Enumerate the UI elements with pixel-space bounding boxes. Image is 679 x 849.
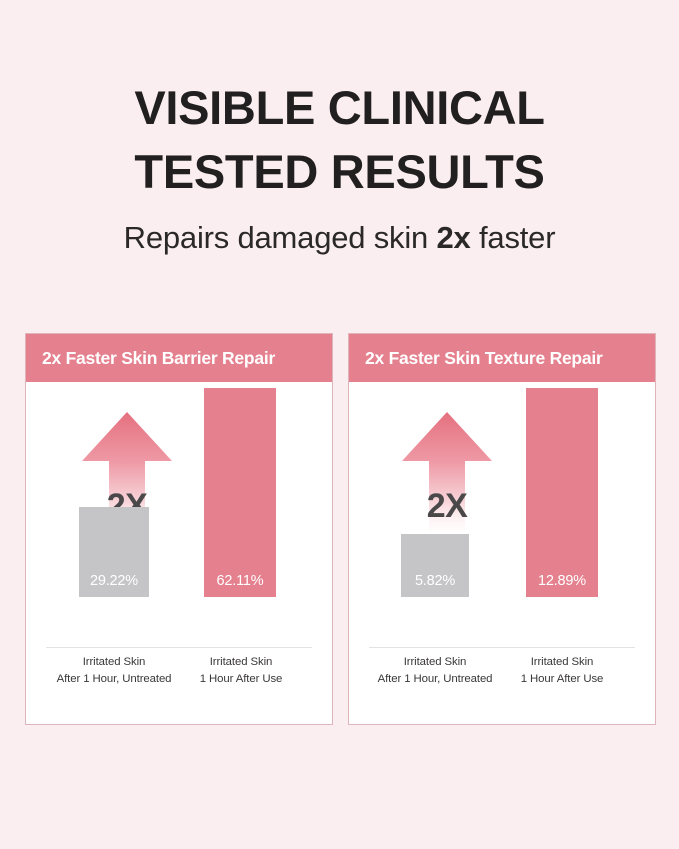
bar-caption-after-use: Irritated Skin 1 Hour After Use xyxy=(497,654,627,687)
bar-caption-untreated-line-2: After 1 Hour, Untreated xyxy=(46,671,182,688)
bar-caption-untreated: Irritated Skin After 1 Hour, Untreated xyxy=(367,654,503,687)
bar-value-untreated: 5.82% xyxy=(401,573,469,589)
growth-arrow-icon: 2X xyxy=(399,409,495,541)
bar-caption-after-use-line-1: Irritated Skin xyxy=(497,654,627,671)
bar-untreated: 29.22% xyxy=(79,507,149,597)
bar-caption-after-use-line-2: 1 Hour After Use xyxy=(497,671,627,688)
page-subtitle: Repairs damaged skin 2x faster xyxy=(0,220,679,256)
bar-caption-after-use-line-2: 1 Hour After Use xyxy=(176,671,306,688)
chart-card-header-barrier-repair: 2x Faster Skin Barrier Repair xyxy=(26,334,332,382)
chart-card-texture-repair: 2x Faster Skin Texture Repair xyxy=(348,333,656,725)
bar-caption-after-use-line-1: Irritated Skin xyxy=(176,654,306,671)
page-title: VISIBLE CLINICAL TESTED RESULTS xyxy=(0,76,679,205)
page-title-line-2: TESTED RESULTS xyxy=(0,140,679,204)
bar-caption-untreated-line-1: Irritated Skin xyxy=(367,654,503,671)
page-subtitle-emphasis: 2x xyxy=(437,220,471,255)
bar-untreated: 5.82% xyxy=(401,534,469,597)
bar-caption-untreated-line-2: After 1 Hour, Untreated xyxy=(367,671,503,688)
chart-card-header-texture-repair: 2x Faster Skin Texture Repair xyxy=(349,334,655,382)
chart-card-container: 2x Faster Skin Barrier Repair xyxy=(25,333,656,725)
bar-value-after-use: 62.11% xyxy=(204,573,276,589)
growth-multiplier-label: 2X xyxy=(399,487,495,526)
bar-after-use: 62.11% xyxy=(204,388,276,597)
bar-value-untreated: 29.22% xyxy=(79,573,149,589)
axis-baseline xyxy=(46,647,312,648)
page-subtitle-pre: Repairs damaged skin xyxy=(124,220,437,255)
bar-caption-untreated-line-1: Irritated Skin xyxy=(46,654,182,671)
chart-plot-area-barrier-repair: 2X 29.22% 62.11% Irritated Skin After 1 … xyxy=(26,382,332,724)
chart-plot-area-texture-repair: 2X 5.82% 12.89% Irritated Skin After 1 H… xyxy=(349,382,655,724)
bar-caption-after-use: Irritated Skin 1 Hour After Use xyxy=(176,654,306,687)
bar-caption-untreated: Irritated Skin After 1 Hour, Untreated xyxy=(46,654,182,687)
page-title-line-1: VISIBLE CLINICAL xyxy=(0,76,679,140)
chart-card-barrier-repair: 2x Faster Skin Barrier Repair xyxy=(25,333,333,725)
axis-baseline xyxy=(369,647,635,648)
page-subtitle-post: faster xyxy=(471,220,556,255)
bar-after-use: 12.89% xyxy=(526,388,598,597)
bar-value-after-use: 12.89% xyxy=(526,573,598,589)
